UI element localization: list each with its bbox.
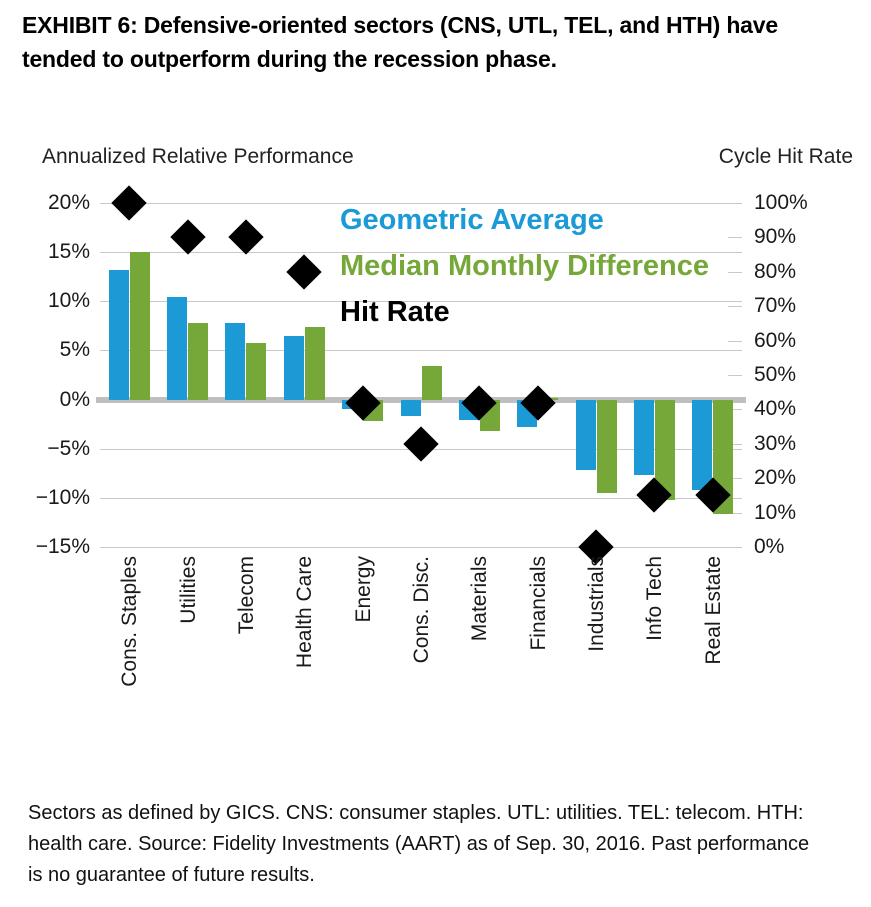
bar-blue (692, 400, 712, 490)
bar-green (188, 323, 208, 400)
bar-blue (167, 297, 187, 399)
x-axis-label: Cons. Staples (118, 556, 142, 687)
bar-green (422, 366, 442, 399)
bar-green (130, 252, 150, 399)
x-axis-label: Real Estate (702, 556, 726, 665)
exhibit-page: EXHIBIT 6: Defensive-oriented sectors (C… (0, 0, 871, 907)
y2-axis-tick-mark (728, 203, 742, 204)
legend-hit-rate: Hit Rate (340, 298, 709, 327)
x-axis-label: Industrials (585, 556, 609, 652)
y-gridline (100, 547, 742, 548)
y2-axis-tick-mark (728, 547, 742, 548)
y2-axis-tick-label: 60% (754, 329, 796, 353)
y2-axis-tick-label: 50% (754, 363, 796, 387)
y2-axis-tick-label: 90% (754, 225, 796, 249)
y2-axis-tick-label: 30% (754, 432, 796, 456)
bar-green (597, 400, 617, 493)
x-axis-label: Financials (527, 556, 551, 651)
chart-footnote: Sectors as defined by GICS. CNS: consume… (28, 798, 818, 891)
x-axis-labels: Cons. StaplesUtilitiesTelecomHealth Care… (100, 556, 742, 736)
y-axis-tick-label: −15% (36, 535, 90, 559)
y-axis-tick-label: −5% (47, 437, 90, 461)
x-axis-label: Cons. Disc. (410, 556, 434, 663)
y-axis-tick-label: 15% (48, 240, 90, 264)
y-axis-tick-label: 0% (60, 388, 90, 412)
y-axis-tick-label: 20% (48, 191, 90, 215)
y-axis-tick-label: −10% (36, 486, 90, 510)
x-axis-label: Telecom (235, 556, 259, 634)
y2-axis-tick-mark (728, 272, 742, 273)
y2-axis-tick-label: 40% (754, 397, 796, 421)
y2-axis-tick-label: 100% (754, 191, 808, 215)
chart-legend: Geometric Average Median Monthly Differe… (340, 206, 709, 327)
hit-rate-diamond-marker (228, 220, 263, 255)
x-axis-label: Energy (352, 556, 376, 623)
y2-axis-tick-mark (728, 306, 742, 307)
y2-axis-tick-label: 20% (754, 466, 796, 490)
y2-axis-tick-label: 80% (754, 260, 796, 284)
hit-rate-diamond-marker (403, 426, 438, 461)
y2-axis-tick-label: 0% (754, 535, 784, 559)
y2-axis-tick-mark (728, 237, 742, 238)
y-axis-tick-label: 5% (60, 338, 90, 362)
bar-blue (284, 336, 304, 400)
bar-green (246, 343, 266, 400)
bar-blue (401, 400, 421, 417)
x-axis-label: Materials (468, 556, 492, 641)
y2-axis-tick-mark (728, 341, 742, 342)
y2-axis-tick-label: 10% (754, 501, 796, 525)
bar-green (305, 327, 325, 400)
bar-blue (225, 323, 245, 400)
y2-axis-tick-label: 70% (754, 294, 796, 318)
bar-blue (634, 400, 654, 476)
bar-blue (576, 400, 596, 471)
legend-median-monthly-difference: Median Monthly Difference (340, 252, 709, 281)
hit-rate-diamond-marker (287, 254, 322, 289)
page-title: EXHIBIT 6: Defensive-oriented sectors (C… (22, 8, 852, 76)
x-axis-label: Health Care (293, 556, 317, 668)
legend-geometric-average: Geometric Average (340, 206, 709, 235)
left-axis-caption: Annualized Relative Performance (42, 145, 354, 169)
bar-blue (109, 270, 129, 400)
hit-rate-diamond-marker (111, 185, 146, 220)
y-axis-tick-label: 10% (48, 289, 90, 313)
y2-axis-tick-mark (728, 375, 742, 376)
x-axis-label: Utilities (177, 556, 201, 624)
right-axis-caption: Cycle Hit Rate (719, 145, 853, 169)
x-axis-label: Info Tech (643, 556, 667, 641)
hit-rate-diamond-marker (170, 220, 205, 255)
